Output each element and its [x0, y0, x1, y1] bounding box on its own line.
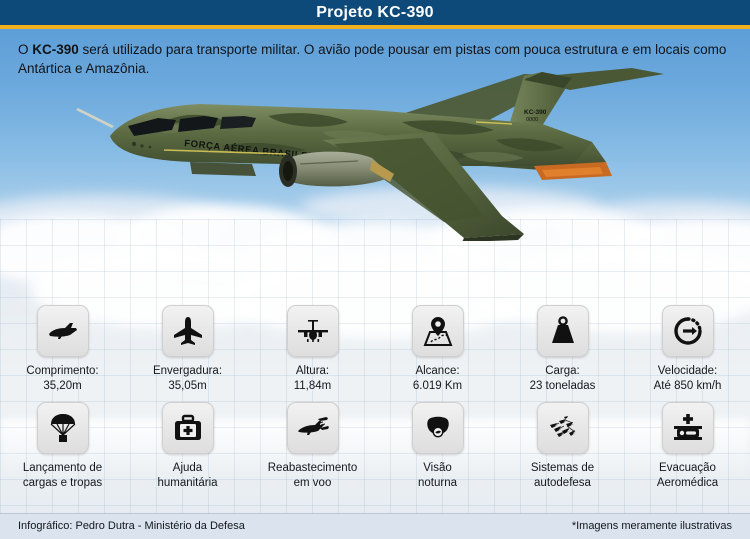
medical-kit-icon — [171, 411, 205, 445]
capability-label-visao: Visão noturna — [376, 461, 500, 490]
capability-tile-visao[interactable] — [412, 402, 464, 454]
intro-lead: O — [18, 42, 32, 57]
spec-item-velocidade[interactable]: Velocidade: Até 850 km/h — [625, 305, 750, 393]
spec-label-comprimento: Comprimento: 35,20m — [1, 364, 125, 393]
spec-item-alcance[interactable]: Alcance: 6.019 Km — [375, 305, 500, 393]
capability-item-autodefesa[interactable]: Sistemas de autodefesa — [500, 402, 625, 490]
aircraft-illustration: FORÇA AÉREA BRASILEIRA KC-390 0000 — [72, 66, 672, 241]
spec-tile-comprimento[interactable] — [37, 305, 89, 357]
capability-item-reabastecimento[interactable]: Reabastecimento em voo — [250, 402, 375, 490]
spec-tile-altura[interactable] — [287, 305, 339, 357]
spec-item-comprimento[interactable]: Comprimento: 35,20m — [0, 305, 125, 393]
spec-label-envergadura: Envergadura: 35,05m — [126, 364, 250, 393]
speedometer-icon — [671, 314, 705, 348]
intro-model-name: KC-390 — [32, 42, 79, 57]
capability-tile-ajuda[interactable] — [162, 402, 214, 454]
parachute-cargo-icon — [46, 411, 80, 445]
capability-label-lancamento: Lançamento de cargas e tropas — [1, 461, 125, 490]
icon-grid: Comprimento: 35,20m Envergadura: 35,05m — [0, 305, 750, 490]
footer-credit: Infográfico: Pedro Dutra - Ministério da… — [18, 521, 245, 532]
capability-item-evacuacao[interactable]: Evacuação Aeromédica — [625, 402, 750, 490]
spec-item-carga[interactable]: Carga: 23 toneladas — [500, 305, 625, 393]
spec-tile-alcance[interactable] — [412, 305, 464, 357]
air-refueling-icon — [296, 411, 330, 445]
capability-tile-evacuacao[interactable] — [662, 402, 714, 454]
capability-label-ajuda: Ajuda humanitária — [126, 461, 250, 490]
spec-label-altura: Altura: 11,84m — [251, 364, 375, 393]
capability-label-evacuacao: Evacuação Aeromédica — [626, 461, 750, 490]
intro-paragraph: O KC-390 será utilizado para transporte … — [18, 40, 732, 78]
countermeasure-flares-icon — [546, 411, 580, 445]
capability-label-reabastecimento: Reabastecimento em voo — [251, 461, 375, 490]
footer-bar: Infográfico: Pedro Dutra - Ministério da… — [0, 513, 750, 539]
spec-tile-envergadura[interactable] — [162, 305, 214, 357]
capability-item-lancamento[interactable]: Lançamento de cargas e tropas — [0, 402, 125, 490]
capability-tile-autodefesa[interactable] — [537, 402, 589, 454]
svg-text:0000: 0000 — [526, 117, 538, 123]
spec-label-carga: Carga: 23 toneladas — [501, 364, 625, 393]
airplane-front-icon — [296, 314, 330, 348]
spec-label-alcance: Alcance: 6.019 Km — [376, 364, 500, 393]
night-vision-goggles-icon — [421, 411, 455, 445]
capability-label-autodefesa: Sistemas de autodefesa — [501, 461, 625, 490]
page-title: Projeto KC-390 — [316, 5, 434, 21]
specs-row: Comprimento: 35,20m Envergadura: 35,05m — [0, 305, 750, 393]
weight-icon — [546, 314, 580, 348]
spec-label-velocidade: Velocidade: Até 850 km/h — [626, 364, 750, 393]
header-accent-rule — [0, 25, 750, 29]
spec-item-altura[interactable]: Altura: 11,84m — [250, 305, 375, 393]
footer-disclaimer: *Imagens meramente ilustrativas — [572, 521, 732, 532]
capability-item-ajuda[interactable]: Ajuda humanitária — [125, 402, 250, 490]
spec-item-envergadura[interactable]: Envergadura: 35,05m — [125, 305, 250, 393]
airplane-side-icon — [46, 314, 80, 348]
svg-text:KC-390: KC-390 — [524, 109, 547, 116]
header-bar: Projeto KC-390 — [0, 0, 750, 25]
airplane-top-icon — [171, 314, 205, 348]
capabilities-row: Lançamento de cargas e tropas Ajuda huma… — [0, 402, 750, 490]
map-pin-icon — [421, 314, 455, 348]
medical-stretcher-icon — [671, 411, 705, 445]
capability-item-visao[interactable]: Visão noturna — [375, 402, 500, 490]
intro-body: será utilizado para transporte militar. … — [18, 42, 726, 76]
spec-tile-carga[interactable] — [537, 305, 589, 357]
capability-tile-lancamento[interactable] — [37, 402, 89, 454]
capability-tile-reabastecimento[interactable] — [287, 402, 339, 454]
spec-tile-velocidade[interactable] — [662, 305, 714, 357]
infographic-root: Projeto KC-390 O KC-390 será utilizado p… — [0, 0, 750, 539]
